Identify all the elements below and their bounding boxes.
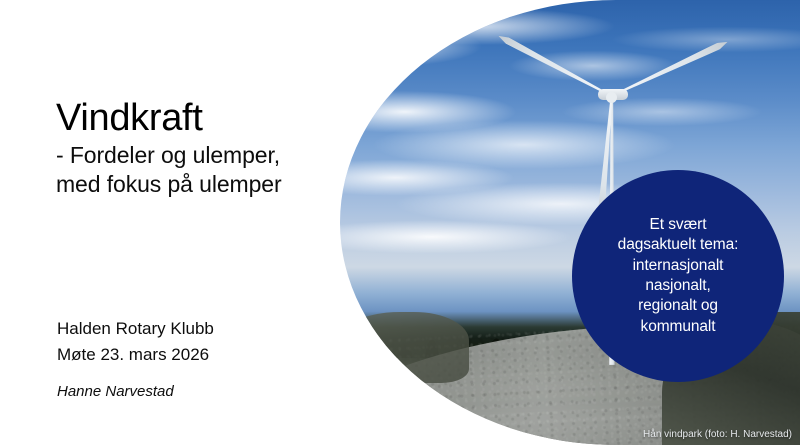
- slide-subtitle-line-2: med fokus på ulemper: [56, 170, 346, 199]
- callout-line-3: internasjonalt: [618, 256, 739, 276]
- organization-line: Halden Rotary Klubb: [57, 316, 347, 342]
- photo-credit: Hån vindpark (foto: H. Narvestad): [643, 429, 792, 440]
- author-name: Hanne Narvestad: [57, 383, 347, 400]
- turbine-blade-2: [610, 39, 729, 99]
- slide-subtitle-line-1: - Fordeler og ulemper,: [56, 141, 346, 170]
- callout-line-4: nasjonalt,: [618, 276, 739, 296]
- callout-line-5: regionalt og: [618, 296, 739, 316]
- callout-line-2: dagsaktuelt tema:: [618, 235, 739, 255]
- slide-meta-block: Halden Rotary Klubb Møte 23. mars 2026 H…: [57, 316, 347, 400]
- slide-subtitle: - Fordeler og ulemper, med fokus på ulem…: [56, 141, 346, 199]
- title-column: Vindkraft - Fordeler og ulemper, med fok…: [0, 0, 350, 445]
- presentation-slide: Vindkraft - Fordeler og ulemper, med fok…: [0, 0, 800, 445]
- turbine-blade-1: [497, 33, 613, 99]
- callout-line-6: kommunalt: [618, 317, 739, 337]
- callout-circle: Et svært dagsaktuelt tema: internasjonal…: [572, 170, 784, 382]
- title-block: Vindkraft - Fordeler og ulemper, med fok…: [56, 98, 346, 199]
- slide-title: Vindkraft: [56, 98, 346, 139]
- callout-text: Et svært dagsaktuelt tema: internasjonal…: [610, 215, 747, 338]
- left-verge: [340, 312, 469, 383]
- callout-line-1: Et svært: [618, 215, 739, 235]
- turbine-hub: [606, 92, 617, 103]
- meeting-date-line: Møte 23. mars 2026: [57, 342, 347, 368]
